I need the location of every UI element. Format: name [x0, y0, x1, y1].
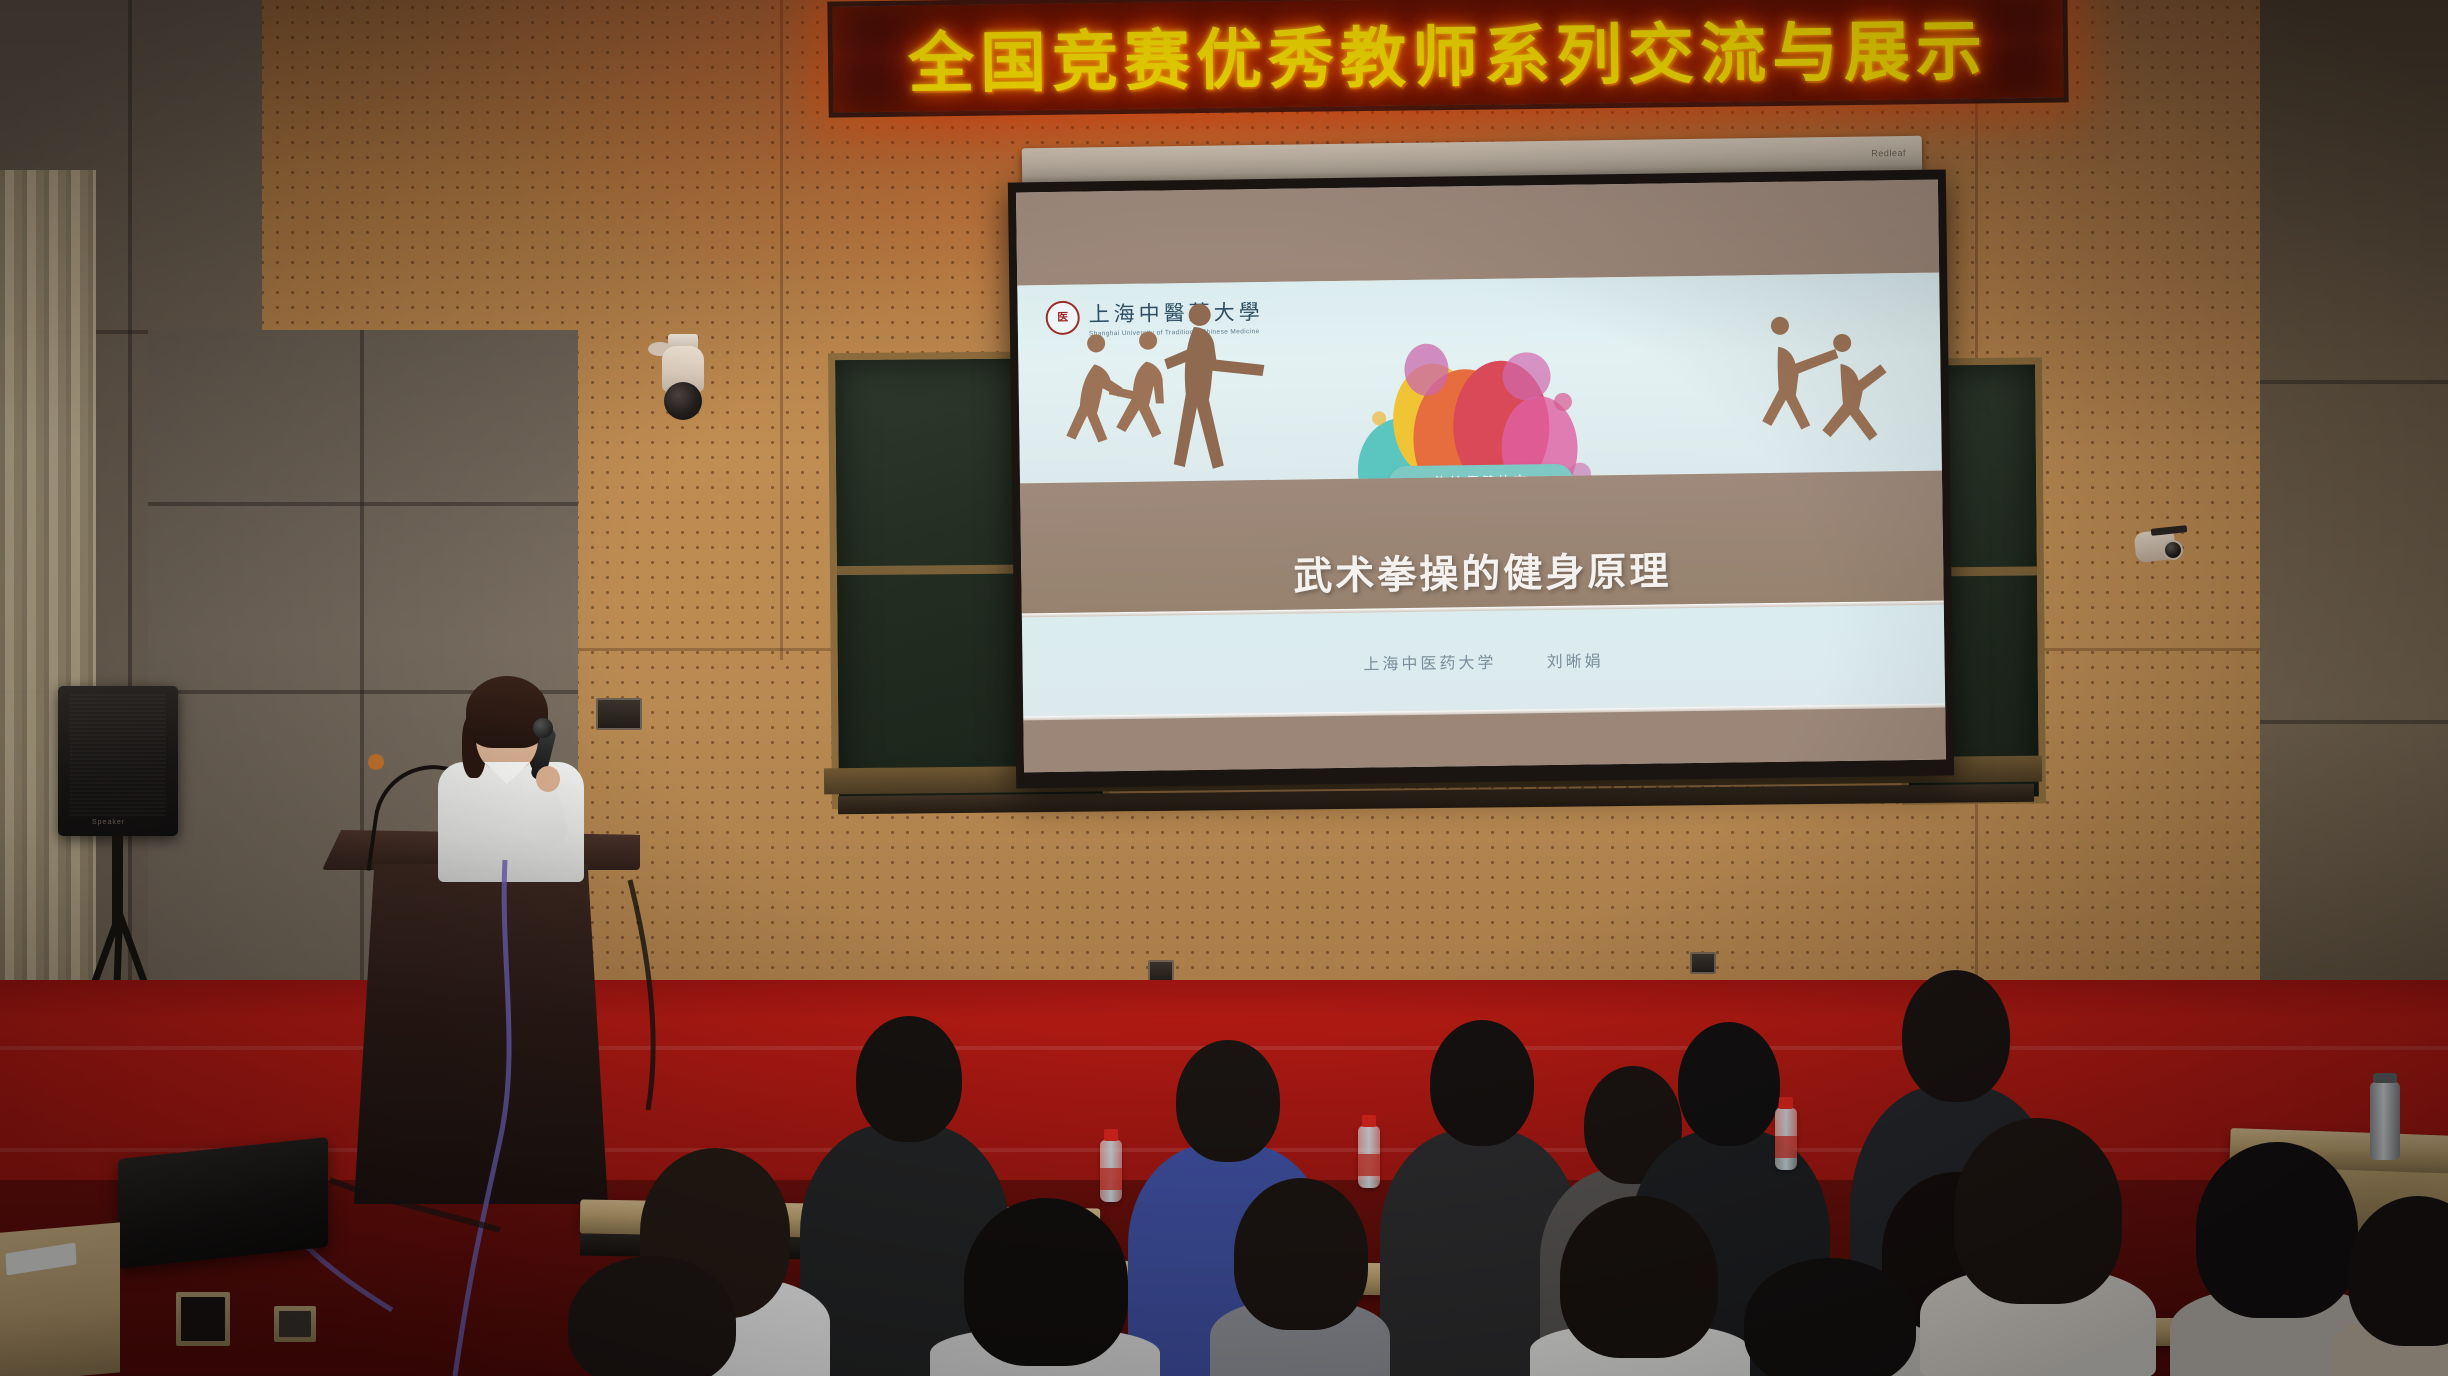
water-bottle — [1775, 1108, 1797, 1170]
projection-screen: 医 上海中醫藥大學 Shanghai University of Traditi… — [1008, 169, 1954, 788]
wall-plate — [1148, 960, 1174, 982]
audience-head — [964, 1198, 1128, 1366]
audience-member — [930, 1198, 1160, 1376]
audience-head — [568, 1256, 736, 1376]
floor-outlet — [274, 1306, 316, 1342]
slide-author-affiliation: 上海中医药大学 — [1363, 652, 1496, 673]
audience-head — [1234, 1178, 1368, 1330]
audience-head — [2348, 1196, 2448, 1346]
handheld-microphone-head — [533, 718, 553, 738]
pa-speaker-cabinet: Speaker — [58, 686, 178, 836]
wall-seam — [780, 0, 783, 660]
slide-author-name: 刘晰娟 — [1547, 651, 1604, 671]
led-banner-text: 全国竞赛优秀教师系列交流与展示 — [907, 0, 1988, 107]
stage-monitor-speaker — [118, 1137, 328, 1269]
martial-arts-figure-center — [1143, 298, 1285, 480]
audience-head — [1560, 1196, 1718, 1358]
wall-plate — [1690, 952, 1716, 974]
pa-speaker-brand-label: Speaker — [92, 819, 125, 826]
slide-top-band — [1016, 180, 1939, 286]
pa-speaker-on-stand: Speaker — [52, 686, 182, 1006]
audience-head — [1744, 1258, 1916, 1376]
stone-pillar-right — [2260, 0, 2448, 1010]
audience-member — [560, 1256, 760, 1376]
audience-member — [1530, 1196, 1750, 1376]
slide-title: 武术拳操的健身原理 — [1293, 541, 1672, 602]
slide-hero-area: 医 上海中醫藥大學 Shanghai University of Traditi… — [1017, 272, 1942, 483]
lecture-hall-photo: 全国竞赛优秀教师系列交流与展示 Redleaf 医 上海中醫藥大學 — [0, 0, 2448, 1376]
bullet-camera-icon — [2135, 523, 2187, 565]
audience-member — [1920, 1118, 2156, 1376]
water-bottle — [1100, 1140, 1122, 1202]
audience-head — [1902, 970, 2010, 1102]
slide-title-band: 武术拳操的健身原理 — [1020, 471, 1944, 614]
presenter — [430, 670, 590, 870]
led-banner: 全国竞赛优秀教师系列交流与展示 — [827, 0, 2068, 118]
slide-author-line: 上海中医药大学 刘晰娟 — [1363, 647, 1604, 674]
audience-head — [1678, 1022, 1780, 1146]
presentation-slide: 医 上海中醫藥大學 Shanghai University of Traditi… — [1016, 180, 1946, 773]
audience-member — [1210, 1178, 1390, 1376]
audience-head — [1954, 1118, 2122, 1304]
podium — [322, 830, 640, 1204]
podium-body — [354, 864, 608, 1204]
audience-head — [1176, 1040, 1280, 1162]
slide-author-band: 上海中医药大学 刘晰娟 — [1022, 605, 1945, 716]
floor-outlet — [176, 1292, 230, 1346]
speaker-stand-pole — [112, 834, 123, 924]
presenter-hair — [466, 676, 548, 748]
seal-char: 医 — [1057, 313, 1068, 324]
ptz-dome-camera-icon — [656, 334, 710, 430]
martial-arts-figure-right — [1750, 313, 1912, 470]
paint-splatter-graphic — [1314, 297, 1647, 484]
screen-brand-label: Redleaf — [1871, 148, 1906, 158]
audience-member — [2330, 1196, 2448, 1376]
audience-member — [1740, 1258, 1940, 1376]
gooseneck-microphone-head — [368, 754, 384, 770]
audience-head — [1430, 1020, 1534, 1146]
audience-head — [856, 1016, 962, 1142]
presenter-hand — [536, 766, 560, 792]
wall-plate — [596, 698, 642, 730]
projection-screen-surface: 医 上海中醫藥大學 Shanghai University of Traditi… — [1016, 180, 1946, 773]
pa-speaker-grille — [70, 694, 166, 816]
